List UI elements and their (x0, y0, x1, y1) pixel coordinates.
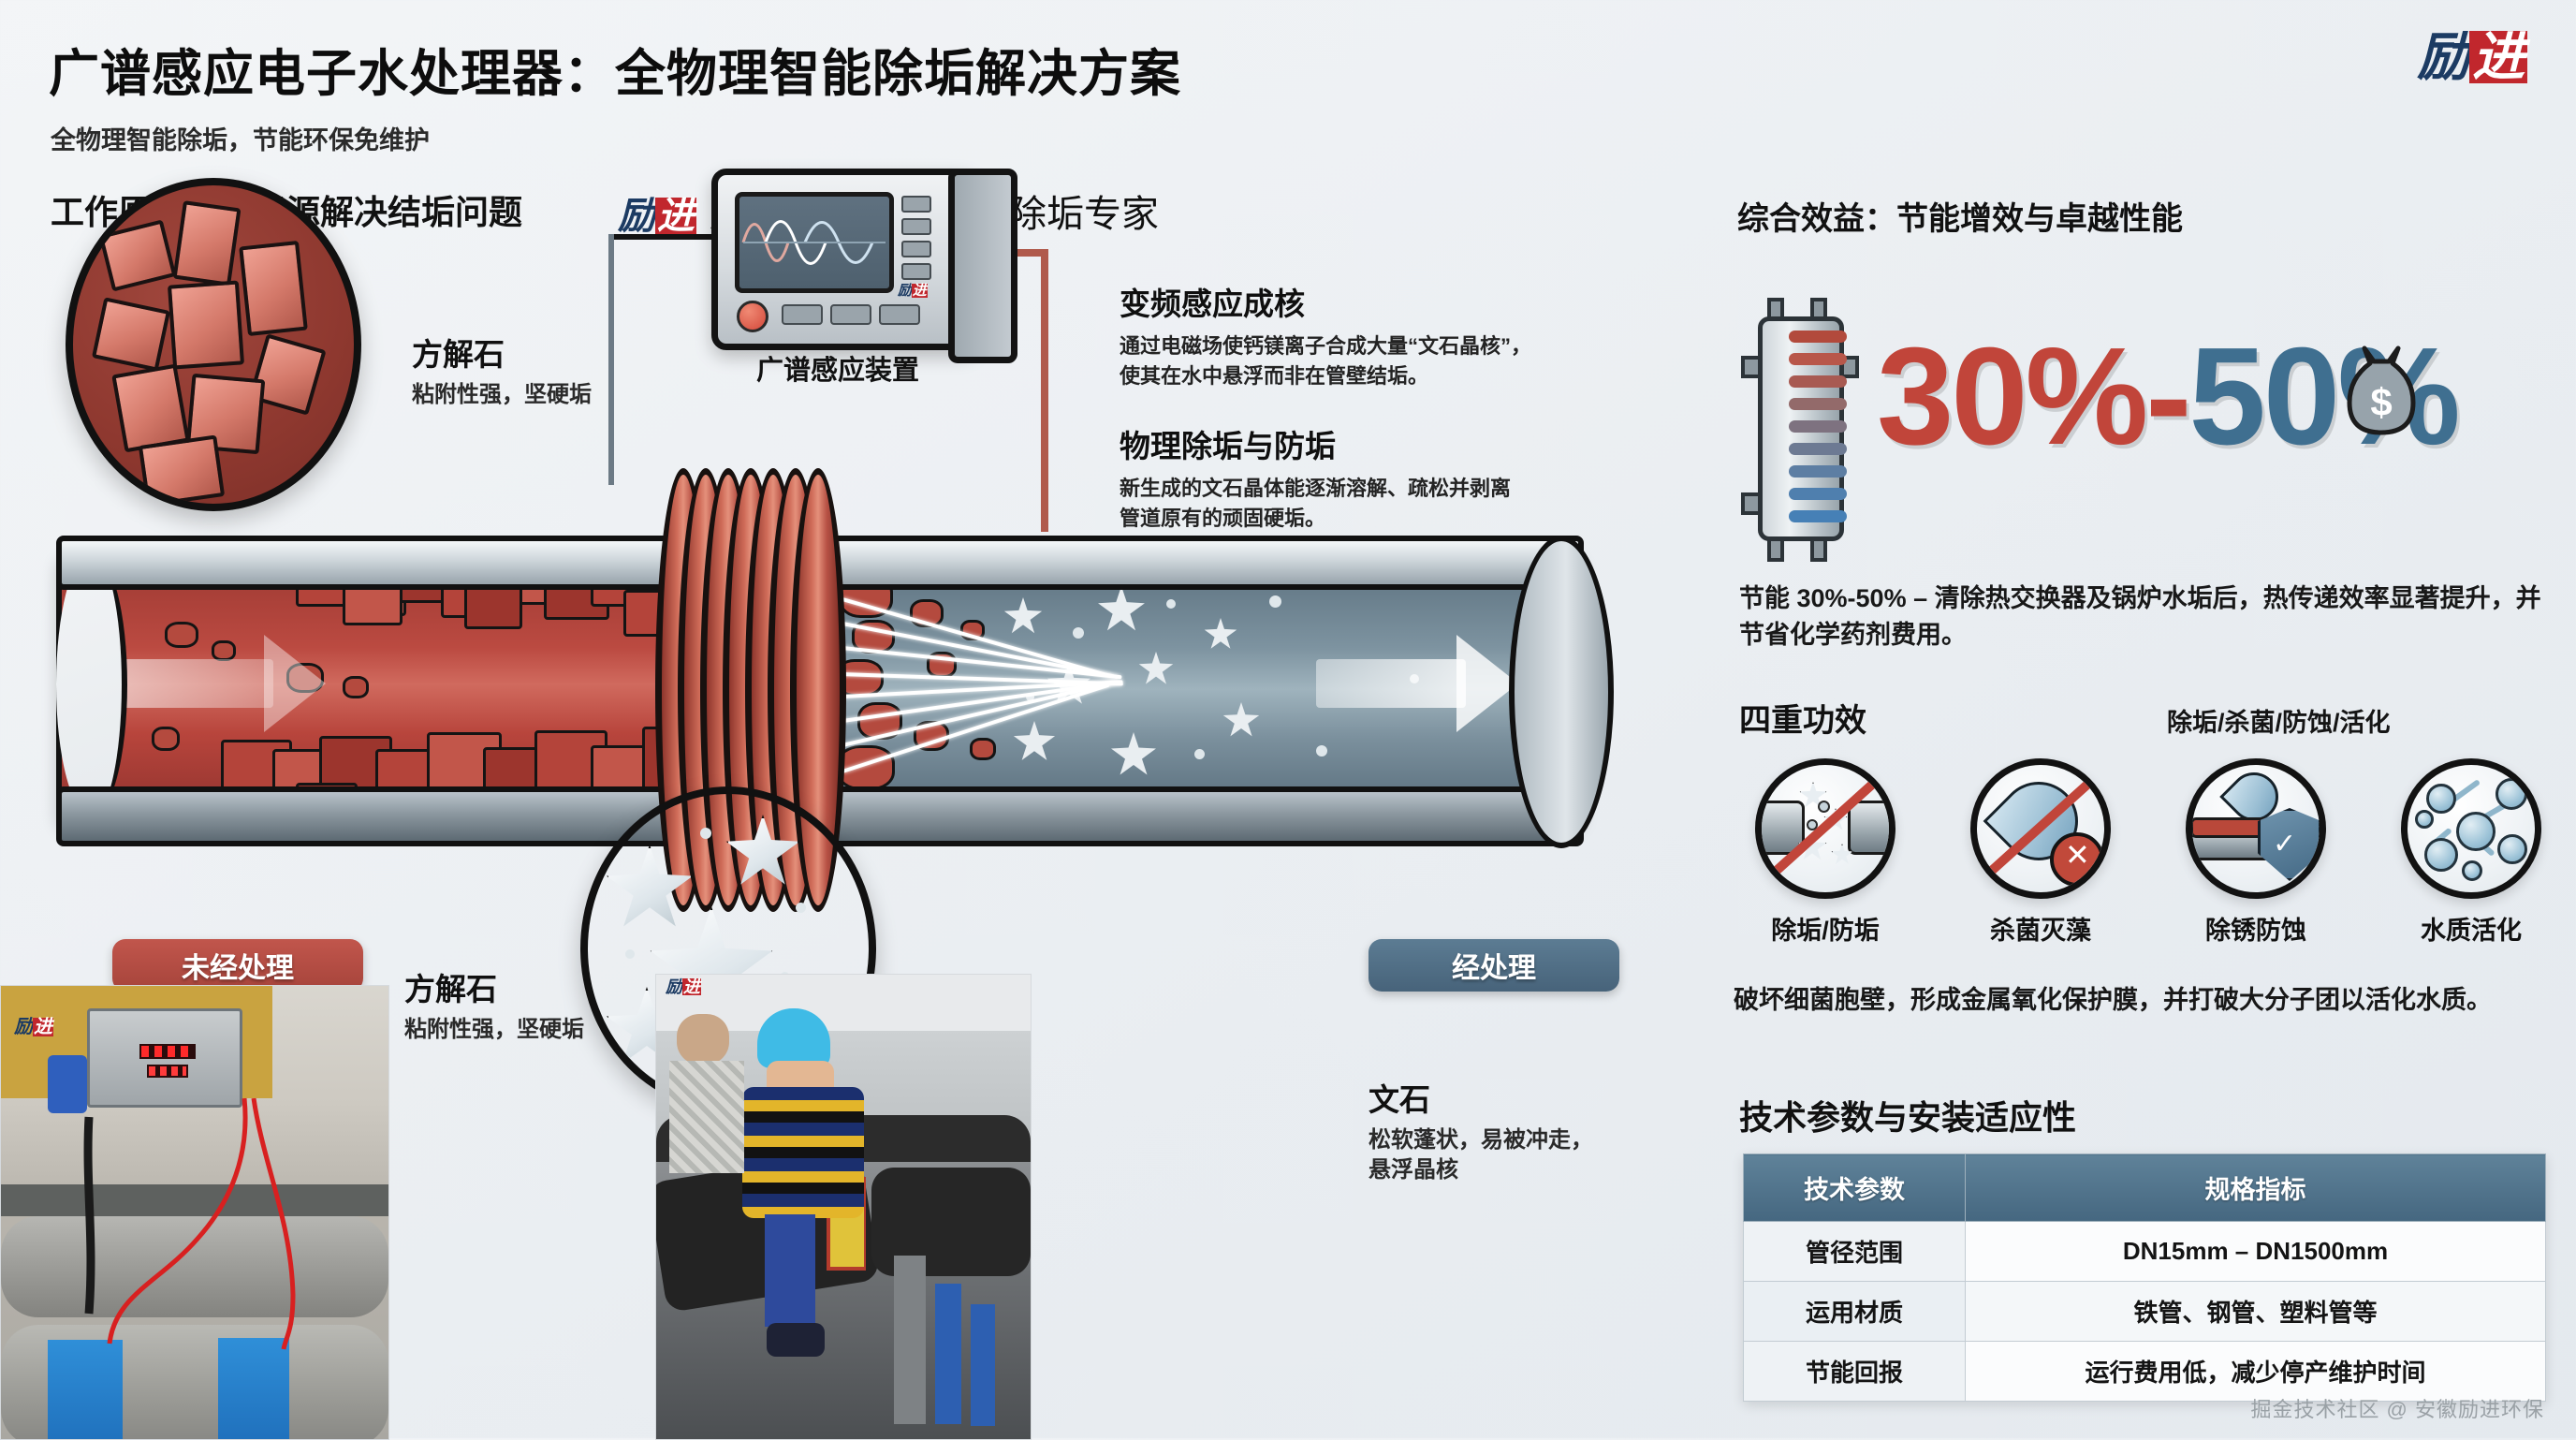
page-subtitle: 全物理智能除垢，节能环保免维护 (51, 120, 430, 156)
quad-effects-tags: 除垢/杀菌/防蚀/活化 (2167, 702, 2391, 739)
energy-saving-description: 节能 30%-50% – 清除热交换器及锅炉水垢后，热传递效率显著提升，并节省化… (1739, 580, 2544, 654)
annotation-calcite-heading: 方解石 (412, 330, 592, 375)
cell-value: 运行费用低，减少停产维护时间 (1966, 1342, 2546, 1402)
percent-dash: - (2145, 319, 2188, 474)
principle-block-2-line2: 管道原有的顽固硬垢。 (1120, 504, 1511, 534)
heat-exchanger-body (1758, 316, 1844, 541)
principle-block-2-heading: 物理除垢与防垢 (1120, 421, 1511, 466)
page-title: 广谱感应电子水处理器：全物理智能除垢解决方案 (49, 32, 1181, 106)
column-header-parameter: 技术参数 (1744, 1154, 1966, 1222)
energy-saving-strong: 节能 30%-50% (1739, 584, 1907, 612)
quad-label-descale: 除垢/防垢 (1732, 910, 1919, 947)
device-waveform-screen (735, 192, 894, 293)
annotation-calcite-bottom-heading: 方解石 (404, 964, 584, 1009)
pipe-descale-icon (1755, 758, 1895, 899)
pipe-open-end (56, 552, 127, 816)
cable-right-vertical (1041, 249, 1048, 532)
table-row: 节能回报 运行费用低，减少停产维护时间 (1744, 1342, 2546, 1402)
quad-item-anticorrosion[interactable]: ✓ 除锈防蚀 (2162, 758, 2349, 947)
pipe-end-cap (1509, 536, 1614, 848)
svg-text:$: $ (2370, 380, 2392, 424)
annotation-calcite-bottom: 方解石 粘附性强，坚硬垢 (404, 964, 584, 1045)
principle-block-1-heading: 变频感应成核 (1120, 279, 1531, 324)
heat-exchanger-icon (1741, 298, 1853, 551)
cell-parameter: 运用材质 (1744, 1282, 1966, 1342)
badge-untreated: 未经处理 (112, 939, 363, 992)
spec-table: 技术参数 规格指标 管径范围 DN15mm – DN1500mm 运用材质 铁管… (1743, 1153, 2546, 1402)
brand-logo-char-2: 进 (2469, 31, 2527, 83)
annotation-calcite-desc: 粘附性强，坚硬垢 (412, 380, 592, 410)
annotation-aragonite-desc-2: 悬浮晶核 (1368, 1155, 1593, 1185)
benefit-section-heading: 综合效益：节能增效与卓越性能 (1737, 193, 2183, 239)
cell-value: 铁管、钢管、塑料管等 (1966, 1282, 2546, 1342)
cable-left-vertical (608, 234, 614, 485)
annotation-aragonite-heading: 文石 (1368, 1075, 1593, 1120)
energy-saving-dash: – (1913, 584, 1927, 612)
money-bag-icon: $ (2338, 343, 2424, 440)
principle-block-1-line1: 通过电磁场使钙镁离子合成大量“文石晶核”， (1120, 331, 1531, 361)
principle-block-1-line2: 使其在水中悬浮而非在管壁结垢。 (1120, 361, 1531, 391)
annotation-aragonite-desc-1: 松软蓬状，易被冲走， (1368, 1125, 1593, 1155)
badge-treated: 经处理 (1368, 939, 1619, 992)
algae-kill-icon: ✕ (1970, 758, 2111, 899)
quad-effects-heading: 四重功效 (1739, 695, 1866, 741)
annotation-aragonite: 文石 松软蓬状，易被冲走， 悬浮晶核 (1368, 1075, 1593, 1186)
percent-low: 30% (1877, 319, 2145, 474)
cell-value: DN15mm – DN1500mm (1966, 1222, 2546, 1282)
table-row: 管径范围 DN15mm – DN1500mm (1744, 1222, 2546, 1282)
quad-item-descale[interactable]: 除垢/防垢 (1732, 758, 1919, 947)
quad-label-sterilize: 杀菌灭藻 (1947, 910, 2134, 947)
anti-corrosion-shield-icon: ✓ (2186, 758, 2326, 899)
quad-effects-description: 破坏细菌胞壁，形成金属氧化保护膜，并打破大分子团以活化水质。 (1734, 979, 2557, 1016)
brand-char-2: 进 (655, 198, 696, 235)
annotation-calcite-bottom-desc: 粘附性强，坚硬垢 (404, 1015, 584, 1045)
electromagnetic-field-lines (842, 590, 1151, 786)
photo-onsite-installation: 励进 (655, 974, 1032, 1440)
cable-left-horizontal (614, 234, 717, 240)
table-row: 运用材质 铁管、钢管、塑料管等 (1744, 1282, 2546, 1342)
brand-logo: 励进 (2417, 22, 2527, 83)
device-brand-logo: 励进 (898, 282, 928, 298)
watermark: 掘金技术社区 @ 安徽励进环保 (2250, 1393, 2544, 1423)
cell-parameter: 管径范围 (1744, 1222, 1966, 1282)
photo-wire-trace (57, 1098, 338, 1351)
quad-effects-row: 除垢/防垢 ✕ 杀菌灭藻 ✓ 除锈防蚀 (1732, 758, 2565, 947)
photo-installed-controller: 励进 (0, 985, 389, 1440)
waveform-icon (739, 197, 889, 288)
principle-block-descaling: 物理除垢与防垢 新生成的文石晶体能逐渐溶解、疏松并剥离 管道原有的顽固硬垢。 (1120, 421, 1511, 534)
quad-item-sterilize[interactable]: ✕ 杀菌灭藻 (1947, 758, 2134, 947)
spec-section-heading: 技术参数与安装适应性 (1739, 1091, 2076, 1139)
water-activation-molecule-icon (2401, 758, 2541, 899)
callout-calcite-crystals (66, 178, 361, 511)
principle-block-2-line1: 新生成的文石晶体能逐渐溶解、疏松并剥离 (1120, 474, 1511, 504)
quad-label-activation: 水质活化 (2378, 910, 2565, 947)
device-caption: 广谱感应装置 (683, 348, 992, 388)
photo-watermark-logo: 励进 (14, 1016, 53, 1037)
column-header-value: 规格指标 (1966, 1154, 2546, 1222)
photo-watermark-logo-2: 励进 (666, 977, 701, 996)
device-side-panel (948, 169, 1017, 363)
quad-label-anticorrosion: 除锈防蚀 (2162, 910, 2349, 947)
annotation-calcite-top: 方解石 粘附性强，坚硬垢 (412, 330, 592, 410)
table-header-row: 技术参数 规格指标 (1744, 1154, 2546, 1222)
quad-item-activation[interactable]: 水质活化 (2378, 758, 2565, 947)
device-power-led (737, 301, 768, 332)
spectrum-induction-device[interactable]: 励进 (711, 169, 977, 350)
cell-parameter: 节能回报 (1744, 1342, 1966, 1402)
brand-char-1: 励 (618, 198, 655, 235)
brand-logo-char-1: 励 (2417, 31, 2469, 83)
principle-block-nucleation: 变频感应成核 通过电磁场使钙镁离子合成大量“文石晶核”， 使其在水中悬浮而非在管… (1120, 279, 1531, 391)
